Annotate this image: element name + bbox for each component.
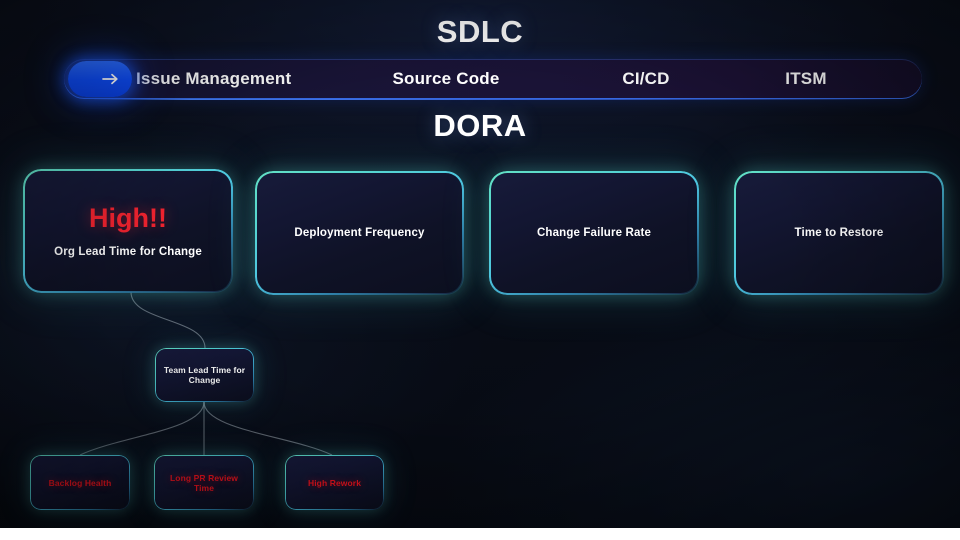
page-title-sdlc: SDLC <box>0 14 960 50</box>
dora-card-change-failure-rate[interactable]: Change Failure Rate <box>490 172 698 294</box>
bottom-white-strip <box>0 528 960 540</box>
sdlc-stage-bar: Issue Management Source Code CI/CD ITSM <box>64 59 922 99</box>
dora-card-time-to-restore[interactable]: Time to Restore <box>735 172 943 294</box>
dora-card-label: Deployment Frequency <box>294 227 424 239</box>
tree-node-label: Backlog Health <box>43 478 118 488</box>
tree-node-label: High Rework <box>302 478 367 488</box>
sdlc-stage-list: Issue Management Source Code CI/CD ITSM <box>136 59 922 99</box>
tree-node-label: Team Lead Time for Change <box>155 365 254 385</box>
tree-node-long-pr-review-time[interactable]: Long PR Review Time <box>154 455 254 510</box>
page-title-dora: DORA <box>0 108 960 144</box>
sdlc-stage-issue-management[interactable]: Issue Management <box>136 69 346 89</box>
dora-card-label: Time to Restore <box>795 227 884 239</box>
tree-node-label: Long PR Review Time <box>154 473 254 493</box>
tree-node-team-lead-time[interactable]: Team Lead Time for Change <box>155 348 254 402</box>
arrow-right-icon <box>102 72 119 86</box>
dora-card-metric: High!! <box>89 205 167 232</box>
sdlc-stage-cicd[interactable]: CI/CD <box>546 69 746 89</box>
dora-card-org-lead-time[interactable]: High!! Org Lead Time for Change <box>24 170 232 292</box>
tree-node-high-rework[interactable]: High Rework <box>285 455 384 510</box>
dora-card-deployment-frequency[interactable]: Deployment Frequency <box>256 172 463 294</box>
stage-advance-button[interactable] <box>68 61 132 97</box>
sdlc-stage-source-code[interactable]: Source Code <box>346 69 546 89</box>
slide-canvas: SDLC DORA Issue Management Source Code C… <box>0 0 960 540</box>
sdlc-stage-itsm[interactable]: ITSM <box>746 69 922 89</box>
dora-card-label: Org Lead Time for Change <box>54 246 202 258</box>
dora-card-label: Change Failure Rate <box>537 227 651 239</box>
tree-node-backlog-health[interactable]: Backlog Health <box>30 455 130 510</box>
